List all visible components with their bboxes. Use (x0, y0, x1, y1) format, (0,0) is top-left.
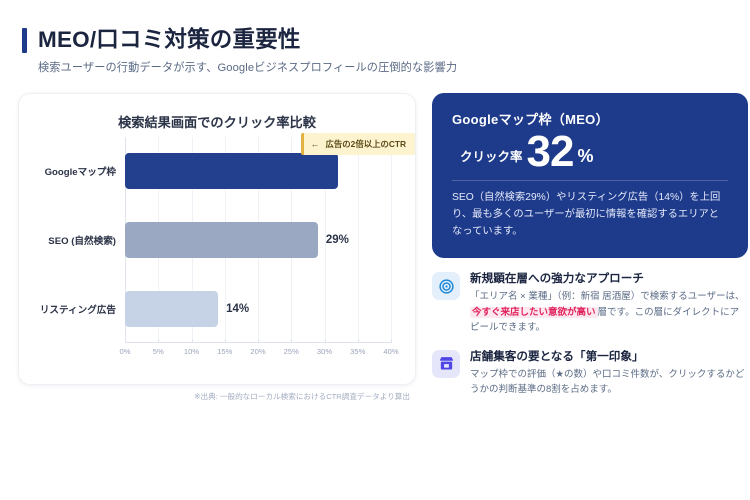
x-tickmark-20 (258, 339, 259, 343)
x-tickmark-15 (225, 339, 226, 343)
target-icon (432, 272, 460, 300)
stat-figure: クリック率 32 % (460, 132, 728, 172)
x-tickmark-10 (192, 339, 193, 343)
feature-2-title: 店舗集客の要となる「第一印象」 (470, 348, 748, 364)
stat-number: 32 (527, 132, 574, 172)
x-tickmark-35 (358, 339, 359, 343)
x-tick-label-30: 30% (317, 347, 332, 356)
bar-row: リスティング広告14% (125, 291, 391, 327)
stat-card-title: Googleマップ枠（MEO） (452, 109, 728, 128)
x-tickmark-30 (325, 339, 326, 343)
chart-bars: Googleマップ枠SEO (自然検索)29%リスティング広告14% (125, 137, 391, 343)
chart-card: 検索結果画面でのクリック率比較 Googleマップ枠SEO (自然検索)29%リ… (18, 93, 416, 385)
bar-2 (125, 222, 318, 258)
chart-callout-badge: ← 広告の2倍以上のCTR (301, 133, 416, 155)
feature-1-text: 新規顕在層への強力なアプローチ 「エリア名 × 業種」（例：新宿 居酒屋）で検索… (470, 270, 748, 335)
feature-item-2: 店舗集客の要となる「第一印象」 マップ枠での評価（★の数）や口コミ件数が、クリッ… (432, 348, 748, 398)
chart-x-axis: 0%5%10%15%20%25%30%35%40% (125, 343, 391, 365)
bar-category-label: SEO (自然検索) (48, 233, 116, 247)
header: MEO/口コミ対策の重要性 検索ユーザーの行動データが示す、Googleビジネス… (18, 28, 732, 75)
bar-category-label: リスティング広告 (40, 302, 116, 316)
bar-value-label: 29% (326, 234, 349, 246)
bar-row: Googleマップ枠 (125, 153, 391, 189)
x-tick-label-35: 35% (350, 347, 365, 356)
chart-title: 検索結果画面でのクリック率比較 (33, 112, 401, 131)
callout-label: 広告の2倍以上のCTR (326, 138, 407, 150)
gridline-40 (391, 137, 392, 343)
stat-body: SEO（自然検索29%）やリスティング広告（14%）を上回り、最も多くのユーザー… (452, 190, 728, 240)
chart-column: 検索結果画面でのクリック率比較 Googleマップ枠SEO (自然検索)29%リ… (18, 93, 416, 402)
x-tickmark-5 (158, 339, 159, 343)
stat-card: Googleマップ枠（MEO） クリック率 32 % SEO（自然検索29%）や… (432, 93, 748, 258)
feature-1-body: 「エリア名 × 業種」（例：新宿 居酒屋）で検索するユーザーは、今すぐ来店したい… (470, 289, 748, 335)
bar-3 (125, 291, 218, 327)
callout-arrow-icon: ← (311, 139, 320, 149)
feature-2-body: マップ枠での評価（★の数）や口コミ件数が、クリックするかどうかの判断基準の8割を… (470, 367, 748, 398)
bar-value-label: 14% (226, 303, 249, 315)
main-content: 検索結果画面でのクリック率比較 Googleマップ枠SEO (自然検索)29%リ… (18, 93, 732, 402)
bar-category-label: Googleマップ枠 (45, 164, 116, 178)
x-tickmark-0 (125, 339, 126, 343)
feature-2-body-pre: マップ枠での評価（★の数）や口コミ件数が、クリックするかどうかの判断基準の8割を… (470, 369, 744, 395)
x-tick-label-25: 25% (284, 347, 299, 356)
slide-root: MEO/口コミ対策の重要性 検索ユーザーの行動データが示す、Googleビジネス… (0, 0, 750, 500)
feature-2-text: 店舗集客の要となる「第一印象」 マップ枠での評価（★の数）や口コミ件数が、クリッ… (470, 348, 748, 398)
bar-1 (125, 153, 338, 189)
x-tick-label-15: 15% (217, 347, 232, 356)
x-tickmark-25 (291, 339, 292, 343)
title-row: MEO/口コミ対策の重要性 (22, 28, 732, 53)
feature-1-title: 新規顕在層への強力なアプローチ (470, 270, 748, 286)
page-subtitle: 検索ユーザーの行動データが示す、Googleビジネスプロフィールの圧倒的な影響力 (22, 59, 732, 75)
x-tick-label-20: 20% (250, 347, 265, 356)
title-accent-bar (22, 28, 27, 53)
x-tick-label-0: 0% (120, 347, 131, 356)
x-tickmark-40 (391, 339, 392, 343)
page-title: MEO/口コミ対策の重要性 (38, 29, 301, 52)
chart-plot-area: Googleマップ枠SEO (自然検索)29%リスティング広告14% 0%5%1… (125, 137, 391, 365)
feature-1-highlight: 今すぐ来店したい意欲が高い (470, 307, 598, 318)
x-tick-label-5: 5% (153, 347, 164, 356)
stat-unit: % (577, 146, 593, 167)
stat-divider (452, 180, 728, 181)
bar-row: SEO (自然検索)29% (125, 222, 391, 258)
store-icon (432, 350, 460, 378)
feature-1-body-pre: 「エリア名 × 業種」（例：新宿 居酒屋）で検索するユーザーは、 (470, 291, 745, 302)
chart-source-note: ※出典: 一般的なローカル検索におけるCTR調査データより算出 (18, 391, 416, 402)
stat-caption: クリック率 (460, 146, 523, 165)
feature-item-1: 新規顕在層への強力なアプローチ 「エリア名 × 業種」（例：新宿 居酒屋）で検索… (432, 270, 748, 335)
x-tick-label-10: 10% (184, 347, 199, 356)
x-tick-label-40: 40% (383, 347, 398, 356)
insight-column: Googleマップ枠（MEO） クリック率 32 % SEO（自然検索29%）や… (432, 93, 748, 402)
